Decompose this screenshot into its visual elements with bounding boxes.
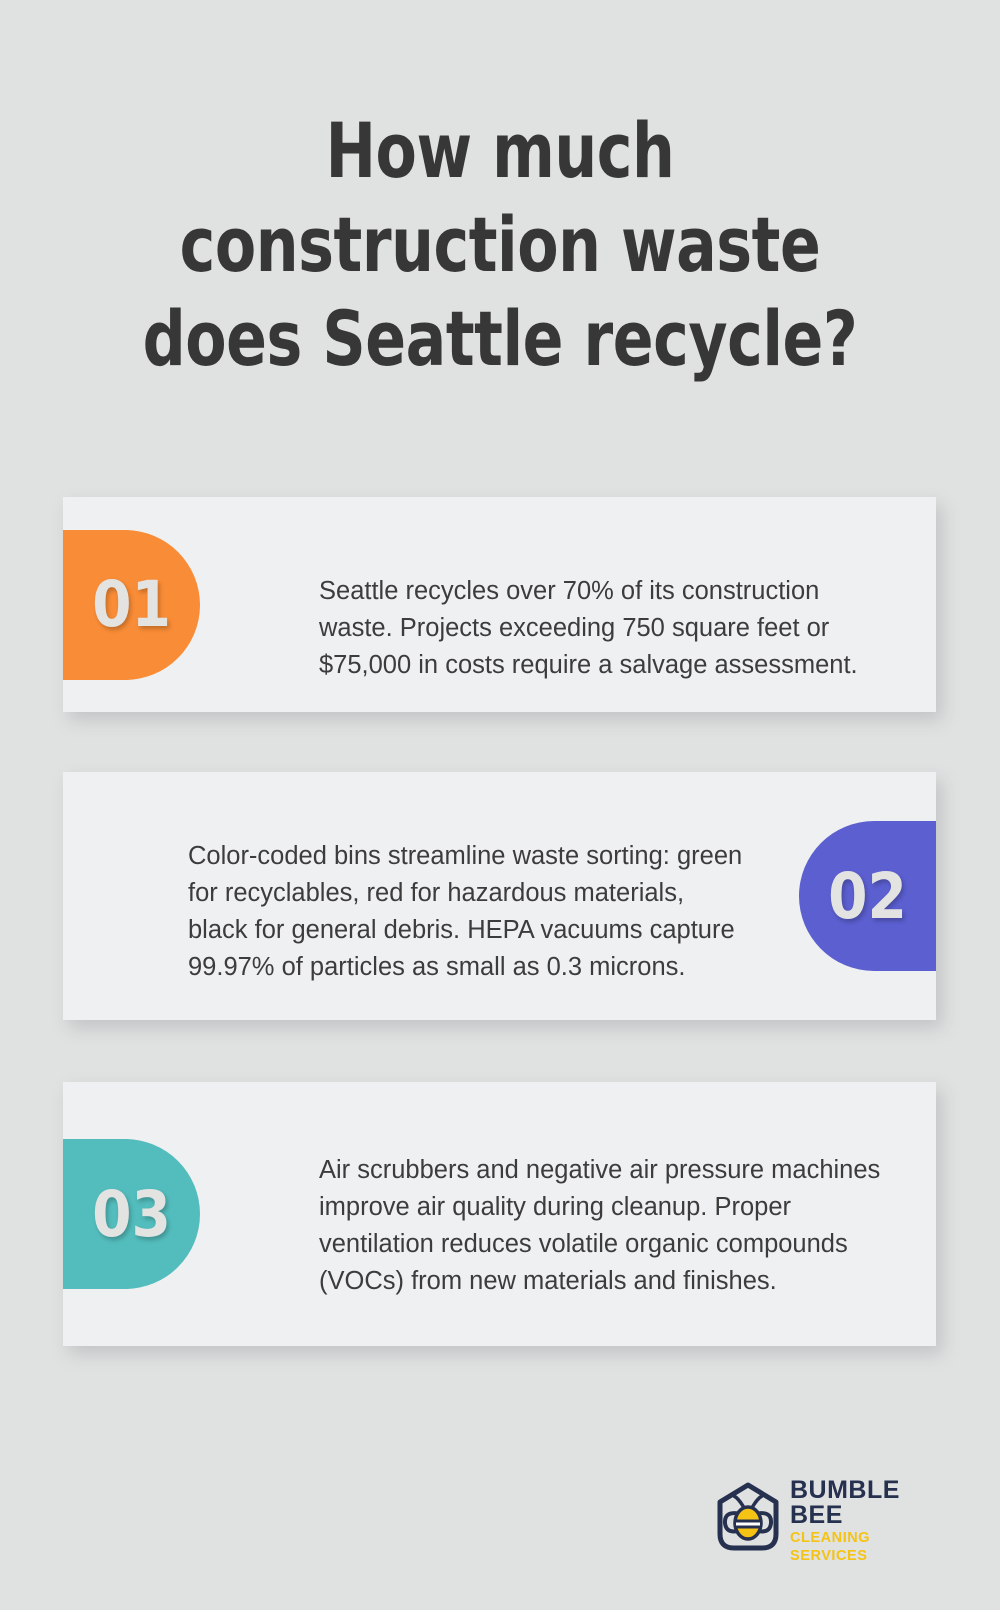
fact-card: 02 Color-coded bins streamline waste sor… [63,772,936,1020]
fact-number: 02 [828,865,907,928]
bee-house-icon [712,1482,784,1552]
fact-text: Color-coded bins streamline waste sortin… [188,838,746,986]
infographic-page: How much construction waste does Seattle… [0,0,1000,1610]
page-title: How much construction waste does Seattle… [60,104,940,386]
brand-name: BUMBLE BEE [790,1478,924,1528]
brand-logo-text: BUMBLE BEE CLEANING SERVICES [790,1470,924,1565]
fact-card: 03 Air scrubbers and negative air pressu… [63,1082,936,1346]
fact-number-badge: 01 [63,530,200,680]
fact-number: 01 [92,573,171,636]
brand-logo: BUMBLE BEE CLEANING SERVICES [712,1481,924,1553]
fact-number-badge: 02 [799,821,936,971]
fact-text: Seattle recycles over 70% of its constru… [319,573,892,684]
brand-tagline: CLEANING SERVICES [790,1529,924,1565]
page-title-text: How much construction waste does Seattle… [113,104,887,386]
fact-text: Air scrubbers and negative air pressure … [319,1152,892,1300]
fact-card: 01 Seattle recycles over 70% of its cons… [63,497,936,712]
fact-number: 03 [92,1183,171,1246]
fact-number-badge: 03 [63,1139,200,1289]
